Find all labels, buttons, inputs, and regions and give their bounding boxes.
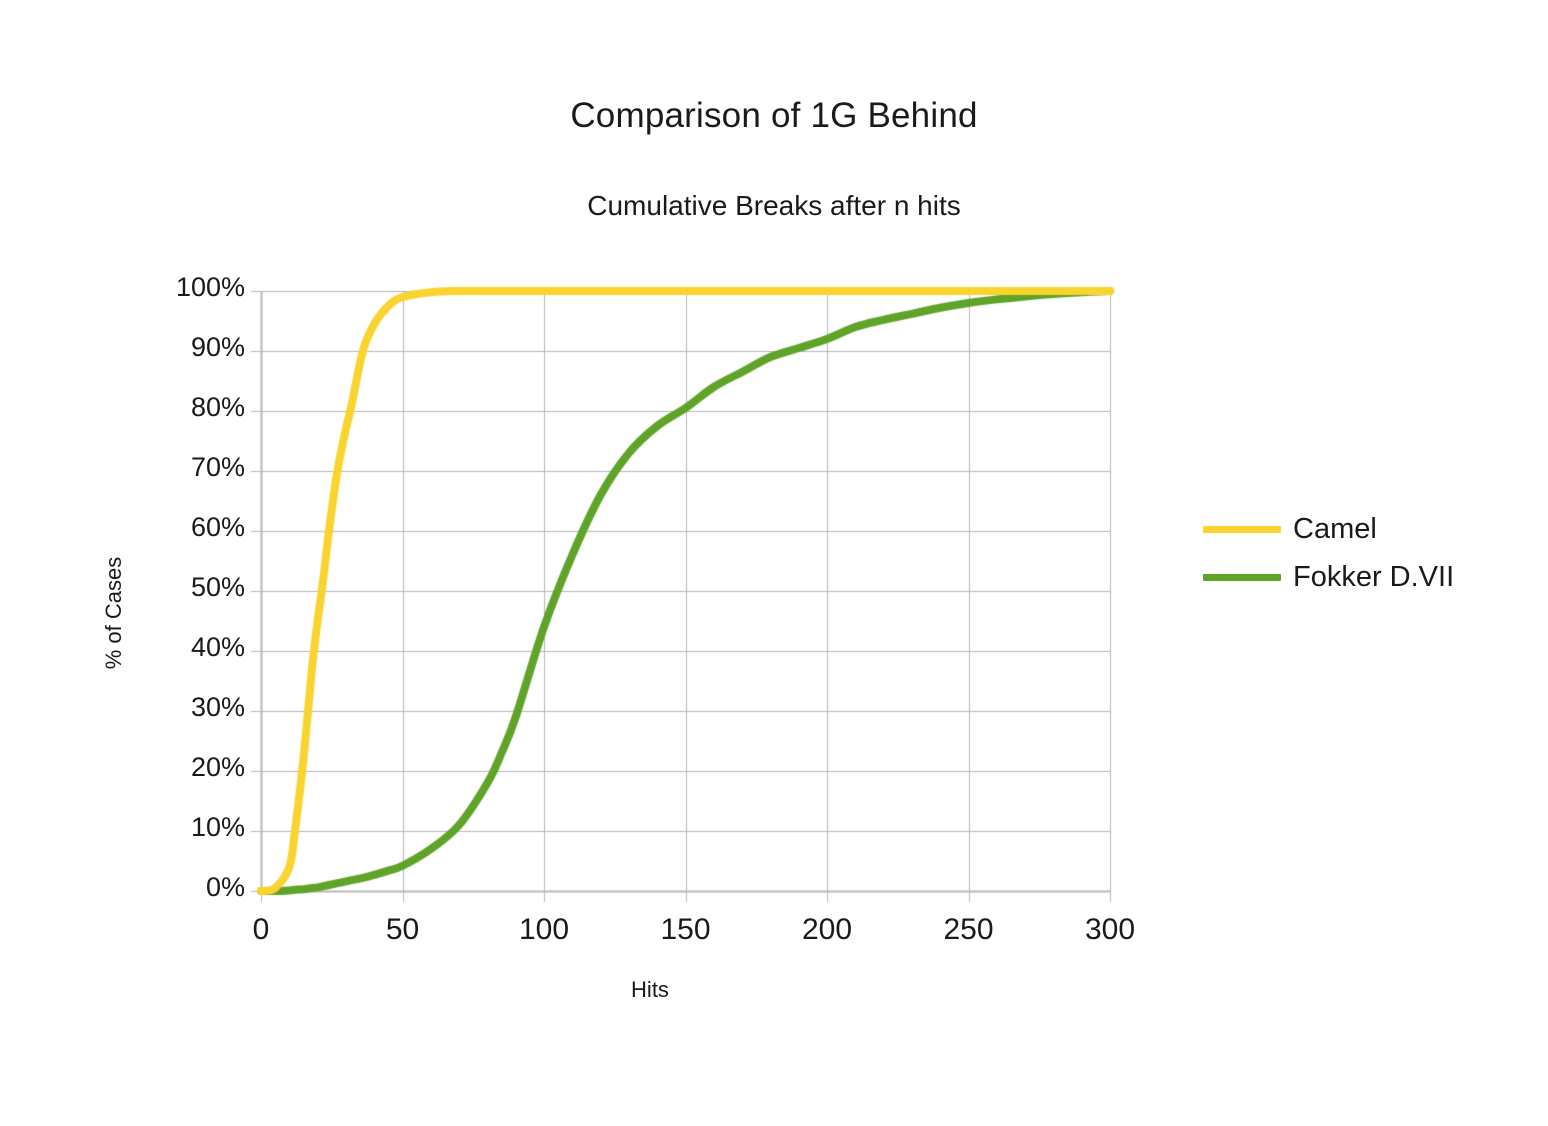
legend-item: Fokker D.VII	[1203, 553, 1454, 601]
x-tick-label: 300	[1050, 913, 1170, 947]
x-tick-label: 250	[909, 913, 1029, 947]
legend-item: Camel	[1203, 505, 1454, 553]
chart-legend: CamelFokker D.VII	[1203, 505, 1454, 601]
y-tick-label: 90%	[115, 332, 245, 363]
y-tick-label: 0%	[115, 872, 245, 903]
y-tick-label: 50%	[115, 572, 245, 603]
y-tick-label: 40%	[115, 632, 245, 663]
legend-label: Fokker D.VII	[1293, 563, 1454, 592]
x-tick-label: 100	[484, 913, 604, 947]
legend-label: Camel	[1293, 515, 1377, 544]
chart-object[interactable]: Comparison of 1G Behind Cumulative Break…	[0, 0, 1548, 1126]
x-tick-label: 0	[201, 913, 321, 947]
x-tick-label: 50	[343, 913, 463, 947]
chart-subtitle: Cumulative Breaks after n hits	[0, 190, 1548, 222]
y-tick-label: 70%	[115, 452, 245, 483]
chart-title: Comparison of 1G Behind	[0, 96, 1548, 136]
legend-swatch-icon	[1203, 526, 1281, 533]
y-tick-label: 20%	[115, 752, 245, 783]
y-tick-label: 60%	[115, 512, 245, 543]
y-tick-label: 30%	[115, 692, 245, 723]
legend-swatch-icon	[1203, 574, 1281, 581]
y-tick-label: 80%	[115, 392, 245, 423]
x-tick-label: 150	[626, 913, 746, 947]
x-axis-title: Hits	[430, 977, 870, 1003]
y-tick-label: 10%	[115, 812, 245, 843]
y-tick-label: 100%	[115, 272, 245, 303]
x-tick-label: 200	[767, 913, 887, 947]
